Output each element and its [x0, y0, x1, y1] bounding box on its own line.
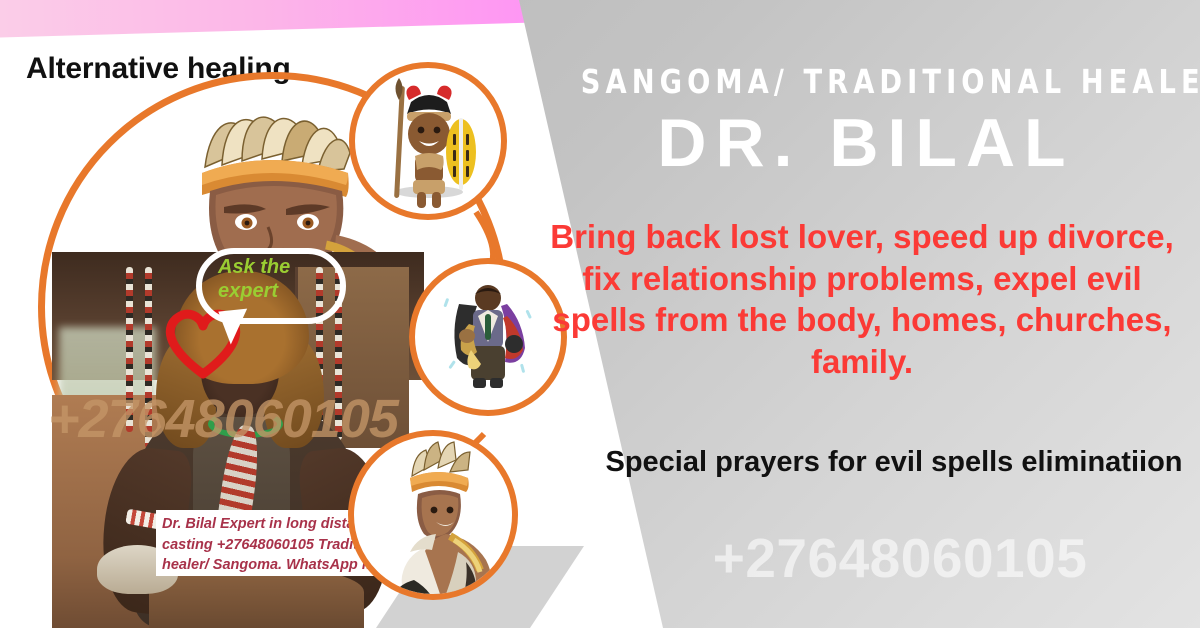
poster-canvas: Alternative healing: [0, 0, 1200, 628]
kicker-text: SANGOMA/ TRADITIONAL HEALER: [581, 62, 1151, 101]
services-text: Bring back lost lover, speed up divorce,…: [538, 216, 1186, 382]
brand-name: DR. BILAL: [556, 104, 1176, 182]
speech-bubble-label: Ask the expert: [218, 256, 338, 303]
special-offer-text: Special prayers for evil spells eliminat…: [600, 444, 1188, 482]
badge-crouching-sangoma: [348, 430, 518, 600]
phone-number-watermark: +27648060105: [600, 526, 1200, 590]
speech-bubble: Ask the expert: [196, 248, 346, 324]
badge-zulu-warrior: [349, 62, 507, 220]
